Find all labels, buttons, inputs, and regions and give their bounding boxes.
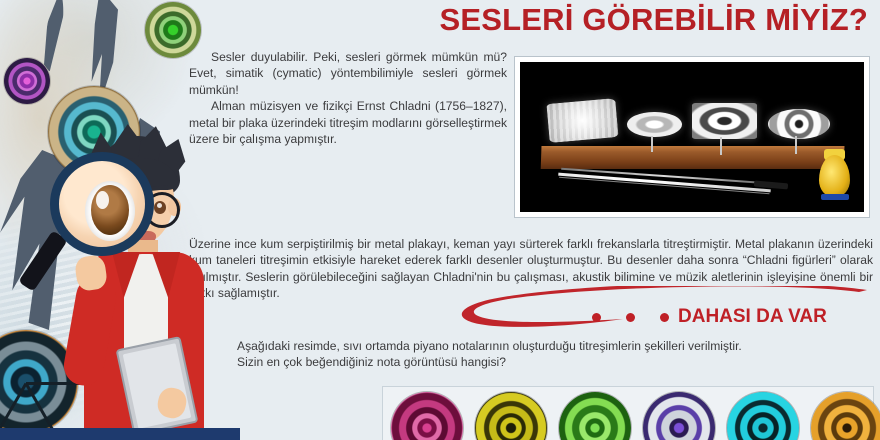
cymatic-circle-silver[interactable] (643, 392, 715, 440)
article-column-left: Sesler duyulabilir. Peki, sesleri görmek… (189, 49, 507, 147)
plate-stand-4 (795, 136, 797, 154)
question-line-2: Sizin en çok beğendiğiniz nota görüntüsü… (237, 354, 873, 370)
cymatic-circle-yellow[interactable] (475, 392, 547, 440)
bottom-accent-bar (0, 428, 240, 440)
eye (154, 201, 166, 214)
cymatic-circle-green[interactable] (559, 392, 631, 440)
article-column-wide: Üzerine ince kum serpiştirilmiş bir meta… (189, 236, 873, 302)
plate-stand-2 (651, 136, 653, 153)
magnifier-lens (50, 152, 154, 256)
cymatic-circle-magenta[interactable] (391, 392, 463, 440)
magnifying-glass-icon (50, 152, 154, 256)
cymatic-circle-teal[interactable] (727, 392, 799, 440)
cymatic-circle-orange[interactable] (811, 392, 880, 440)
yellow-object (819, 155, 850, 197)
callout-dot-3 (660, 313, 669, 322)
callout-dot-1 (592, 313, 601, 322)
callout-more: DAHASI DA VAR (592, 306, 827, 328)
magnified-eye-pupil (91, 185, 129, 235)
cymatic-image-strip (382, 386, 874, 440)
article-paragraph-1: Sesler duyulabilir. Peki, sesleri görmek… (189, 49, 507, 98)
chladni-plate-2 (627, 112, 682, 138)
plate-stand-3 (720, 137, 722, 155)
poster-page: SESLERİ GÖREBİLİR MİYİZ? Sesler duyulabi… (0, 0, 880, 440)
decor-disc-purple (4, 58, 50, 104)
question-block: Aşağıdaki resimde, sıvı ortamda piyano n… (237, 338, 873, 371)
callout-label: DAHASI DA VAR (678, 306, 827, 328)
article-paragraph-2: Alman müzisyen ve fizikçi Ernst Chladni … (189, 98, 507, 147)
question-line-1: Aşağıdaki resimde, sıvı ortamda piyano n… (237, 338, 873, 354)
article-paragraph-3: Üzerine ince kum serpiştirilmiş bir meta… (189, 236, 873, 302)
callout-dot-2 (626, 313, 635, 322)
chladni-experiment-photo (514, 56, 870, 218)
page-title: SESLERİ GÖREBİLİR MİYİZ? (440, 2, 869, 38)
yellow-object-base (821, 194, 849, 200)
chladni-plate-4 (768, 109, 830, 139)
chladni-plate-1 (546, 98, 618, 143)
wooden-base (540, 152, 843, 169)
photo-inner (520, 62, 864, 212)
chladni-plate-3 (692, 103, 757, 139)
